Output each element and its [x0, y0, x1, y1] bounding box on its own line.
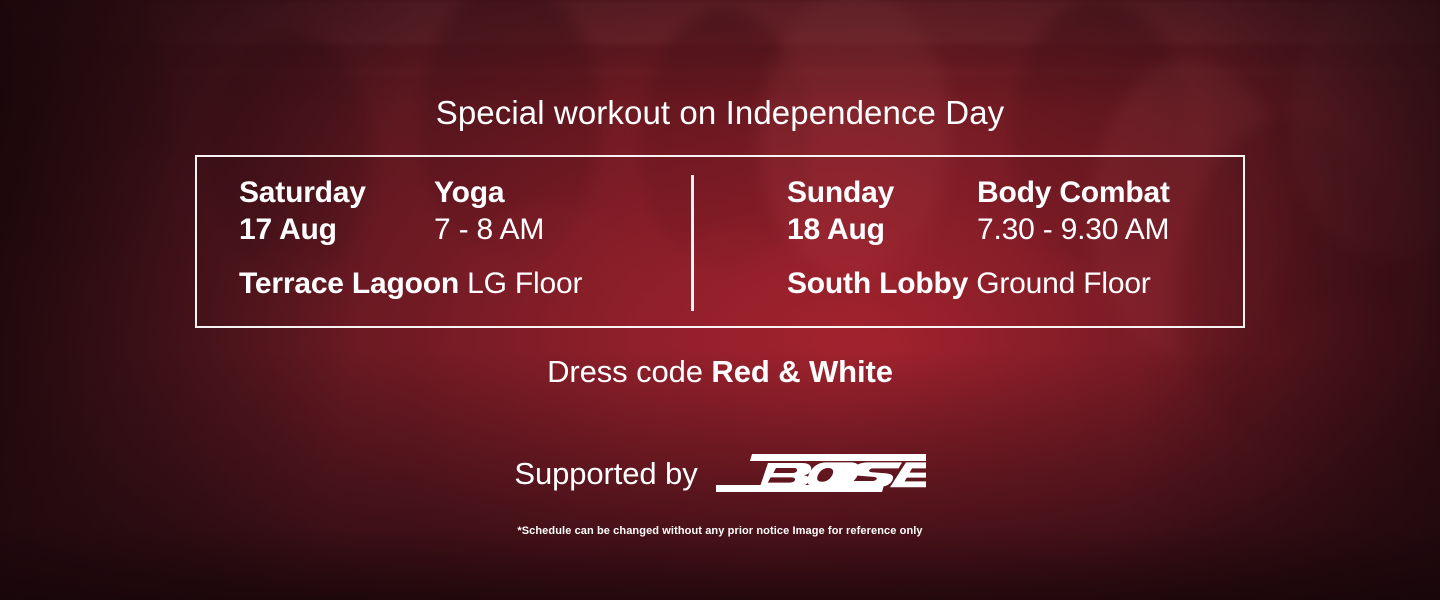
dress-code-value: Red & White [711, 354, 892, 389]
session-day-date: Sunday 18 Aug [787, 174, 977, 248]
session-panel-sunday: Sunday 18 Aug Body Combat 7.30 - 9.30 AM… [695, 157, 1243, 326]
bose-logo-icon [716, 452, 926, 494]
banner-headline: Special workout on Independence Day [0, 96, 1440, 129]
session-venue-floor: Ground Floor [968, 267, 1150, 300]
session-class-block: Yoga 7 - 8 AM [434, 174, 544, 248]
session-class-name: Yoga [434, 174, 544, 211]
banner-content: Special workout on Independence Day Satu… [0, 0, 1440, 600]
schedule-box: Saturday 17 Aug Yoga 7 - 8 AM Terrace La… [195, 155, 1245, 328]
session-class-block: Body Combat 7.30 - 9.30 AM [977, 174, 1170, 248]
session-venue-name: South Lobby [787, 267, 968, 300]
session-day: Sunday [787, 176, 894, 209]
session-day: Saturday [239, 176, 366, 209]
disclaimer-text: *Schedule can be changed without any pri… [0, 526, 1440, 537]
dress-code-line: Dress code Red & White [0, 356, 1440, 387]
session-class-time: 7.30 - 9.30 AM [977, 211, 1170, 248]
session-row: Saturday 17 Aug Yoga 7 - 8 AM [239, 174, 695, 248]
session-row: Sunday 18 Aug Body Combat 7.30 - 9.30 AM [787, 174, 1243, 248]
session-class-time: 7 - 8 AM [434, 211, 544, 248]
sponsor-line: Supported by [0, 452, 1440, 494]
session-venue: South Lobby Ground Floor [787, 269, 1243, 299]
session-day-date: Saturday 17 Aug [239, 174, 434, 248]
session-venue: Terrace Lagoon LG Floor [239, 269, 695, 299]
session-date: 18 Aug [787, 213, 885, 246]
session-panel-saturday: Saturday 17 Aug Yoga 7 - 8 AM Terrace La… [197, 157, 695, 326]
session-venue-name: Terrace Lagoon [239, 267, 459, 300]
session-date: 17 Aug [239, 213, 337, 246]
session-venue-floor: LG Floor [459, 267, 582, 300]
sponsor-label: Supported by [514, 458, 697, 489]
dress-code-label: Dress code [547, 354, 711, 389]
session-class-name: Body Combat [977, 174, 1170, 211]
panel-divider [691, 175, 694, 311]
promo-banner: Special workout on Independence Day Satu… [0, 0, 1440, 600]
